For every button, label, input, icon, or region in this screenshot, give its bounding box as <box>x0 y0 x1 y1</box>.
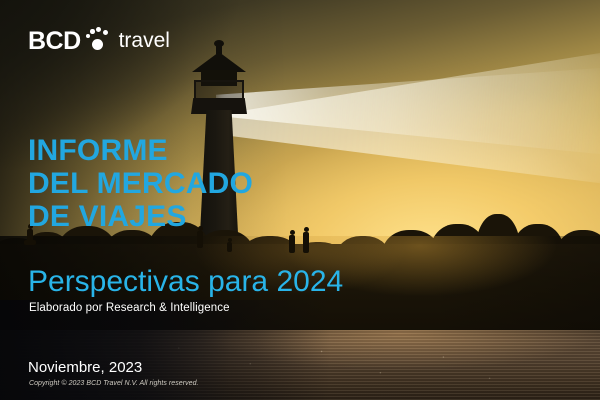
page-title: INFORME DEL MERCADO DE VIAJES <box>28 134 358 233</box>
subtitle-text: Perspectivas para <box>28 265 276 298</box>
title-line-2: DEL MERCADO <box>28 167 358 200</box>
lighthouse-roof <box>192 52 246 72</box>
subtitle-year: 2024 <box>276 265 343 298</box>
title-line-1: INFORME <box>28 134 358 167</box>
byline: Elaborado por Research & Intelligence <box>29 302 230 314</box>
lighthouse-railing <box>194 80 244 100</box>
paw-dots-icon <box>85 27 111 55</box>
page-subtitle: Perspectivas para 2024 <box>28 265 343 299</box>
bcd-travel-logo: BCD travel <box>28 27 170 55</box>
title-slide: BCD travel INFORME DEL MERCADO DE VIAJES… <box>0 0 600 400</box>
publication-date: Noviembre, 2023 <box>28 359 142 376</box>
copyright-notice: Copyright © 2023 BCD Travel N.V. All rig… <box>29 380 199 387</box>
logo-wordmark-bcd: BCD <box>28 27 81 55</box>
title-line-3: DE VIAJES <box>28 200 358 233</box>
logo-wordmark-travel: travel <box>119 27 170 55</box>
